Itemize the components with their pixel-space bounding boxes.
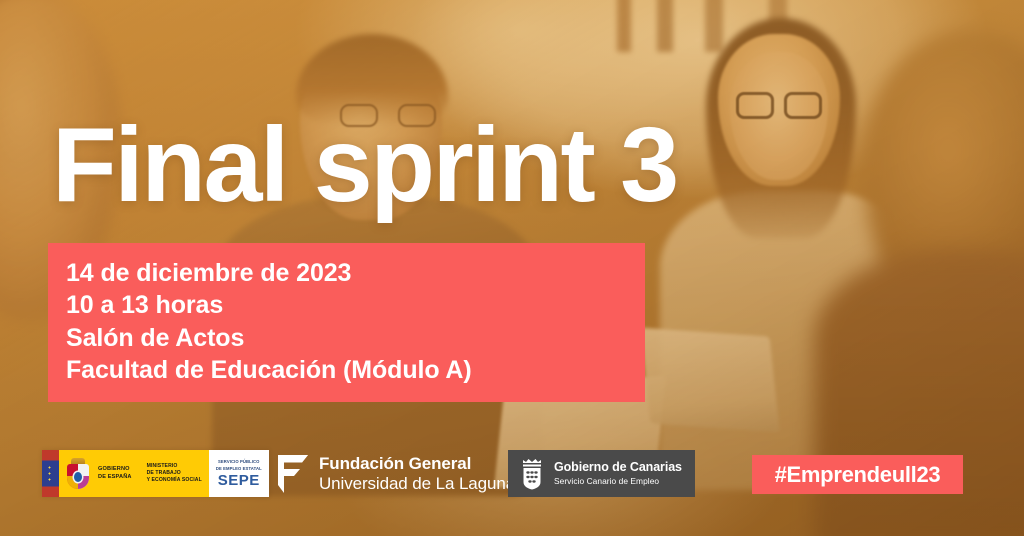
spain-flag-bar-icon	[42, 450, 59, 497]
logo-gobierno-de-espana: GOBIERNO DE ESPAÑA MINISTERIO DE TRABAJO…	[42, 450, 269, 497]
logo-fundacion-general-ull: Fundación General Universidad de La Lagu…	[278, 451, 515, 497]
logo-strip: GOBIERNO DE ESPAÑA MINISTERIO DE TRABAJO…	[0, 446, 1024, 502]
canarias-wordmark: Gobierno de Canarias Servicio Canario de…	[554, 460, 682, 486]
event-details-panel: 14 de diciembre de 2023 10 a 13 horas Sa…	[48, 243, 645, 402]
event-location: Facultad de Educación (Módulo A)	[66, 354, 645, 386]
fgull-f-mark-icon	[278, 455, 308, 493]
sepe-subtitle-line-1: SERVICIO PÚBLICO	[218, 459, 260, 464]
logo-gobierno-de-canarias: Gobierno de Canarias Servicio Canario de…	[508, 450, 695, 497]
spain-logo-body: GOBIERNO DE ESPAÑA MINISTERIO DE TRABAJO…	[59, 450, 209, 497]
gobierno-line-2: DE ESPAÑA	[98, 474, 132, 481]
event-time: 10 a 13 horas	[66, 289, 645, 321]
canarias-line-1: Gobierno de Canarias	[554, 460, 682, 475]
ministerio-line-2: DE TRABAJO	[147, 470, 202, 477]
canarias-shield-icon	[519, 458, 545, 490]
canarias-line-2: Servicio Canario de Empleo	[554, 476, 682, 486]
spain-coat-of-arms-icon	[65, 458, 91, 490]
page-title: Final sprint 3	[52, 112, 677, 218]
sepe-acronym: SEPE	[218, 473, 260, 488]
event-date: 14 de diciembre de 2023	[66, 257, 645, 289]
event-venue: Salón de Actos	[66, 322, 645, 354]
fgull-wordmark: Fundación General Universidad de La Lagu…	[319, 454, 515, 494]
fgull-line-1: Fundación General	[319, 454, 515, 474]
gobierno-espana-wordmark: GOBIERNO DE ESPAÑA	[98, 466, 132, 481]
fgull-line-2: Universidad de La Laguna	[319, 474, 515, 494]
sepe-subtitle-line-2: DE EMPLEO ESTATAL	[216, 466, 262, 471]
shield-icon	[67, 464, 89, 489]
ministerio-line-3: Y ECONOMÍA SOCIAL	[147, 477, 202, 484]
logo-sepe: SERVICIO PÚBLICO DE EMPLEO ESTATAL SEPE	[209, 450, 269, 497]
hashtag-label: #Emprendeull23	[775, 462, 941, 488]
event-promo-banner: Final sprint 3 14 de diciembre de 2023 1…	[0, 0, 1024, 536]
gobierno-line-1: GOBIERNO	[98, 466, 132, 473]
hashtag-badge: #Emprendeull23	[752, 455, 963, 494]
ministerio-line-1: MINISTERIO	[147, 463, 202, 470]
ministerio-wordmark: MINISTERIO DE TRABAJO Y ECONOMÍA SOCIAL	[147, 463, 202, 484]
